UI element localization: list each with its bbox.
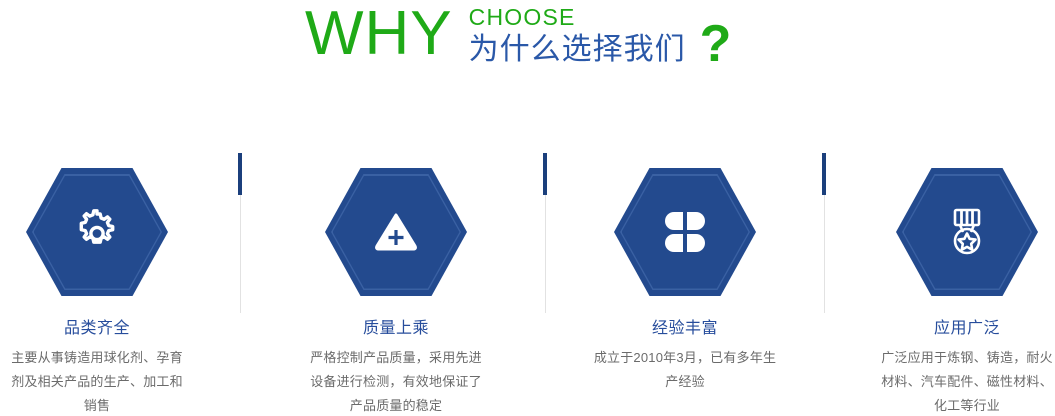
triangle-plus-icon (368, 204, 424, 260)
heading-why: WHY (305, 2, 453, 66)
card-description: 广泛应用于炼钢、铸造，耐火材料、汽车配件、磁性材料、化工等行业 (847, 346, 1055, 416)
card-description: 成立于2010年3月，已有多年生产经验 (565, 346, 805, 394)
heading-middle-block: CHOOSE 为什么选择我们 (469, 2, 686, 68)
card-description: 严格控制产品质量，采用先进设备进行检测，有效地保证了产品质量的稳定 (276, 346, 516, 416)
feature-cards: 品类齐全 主要从事铸造用球化剂、孕育剂及相关产品的生产、加工和销售 质量上乘 严… (0, 150, 1055, 416)
card-title: 应用广泛 (847, 319, 1055, 339)
feature-card-application[interactable]: 应用广泛 广泛应用于炼钢、铸造，耐火材料、汽车配件、磁性材料、化工等行业 (847, 150, 1055, 416)
card-title: 经验丰富 (565, 319, 805, 339)
feature-card-quality[interactable]: 质量上乘 严格控制产品质量，采用先进设备进行检测，有效地保证了产品质量的稳定 (276, 150, 516, 416)
card-description: 主要从事铸造用球化剂、孕育剂及相关产品的生产、加工和销售 (0, 346, 217, 416)
card-title: 质量上乘 (276, 319, 516, 339)
hexagon-badge (614, 168, 756, 296)
heading-question-mark: ? (700, 2, 732, 72)
hexagon-badge (325, 168, 467, 296)
section-heading: WHY CHOOSE 为什么选择我们 ? (0, 0, 1055, 96)
card-title: 品类齐全 (0, 319, 217, 339)
gear-icon (69, 204, 125, 260)
why-choose-us-section: WHY CHOOSE 为什么选择我们 ? (0, 0, 1055, 416)
heading-inner: WHY CHOOSE 为什么选择我们 ? (305, 2, 731, 72)
heading-chinese-title: 为什么选择我们 (469, 32, 686, 68)
heading-choose: CHOOSE (469, 4, 686, 30)
hexagon-badge (26, 168, 168, 296)
hexagon-badge (896, 168, 1038, 296)
four-petal-icon (657, 204, 713, 260)
feature-card-category[interactable]: 品类齐全 主要从事铸造用球化剂、孕育剂及相关产品的生产、加工和销售 (0, 150, 217, 416)
medal-icon (939, 204, 995, 260)
feature-card-experience[interactable]: 经验丰富 成立于2010年3月，已有多年生产经验 (565, 150, 805, 394)
